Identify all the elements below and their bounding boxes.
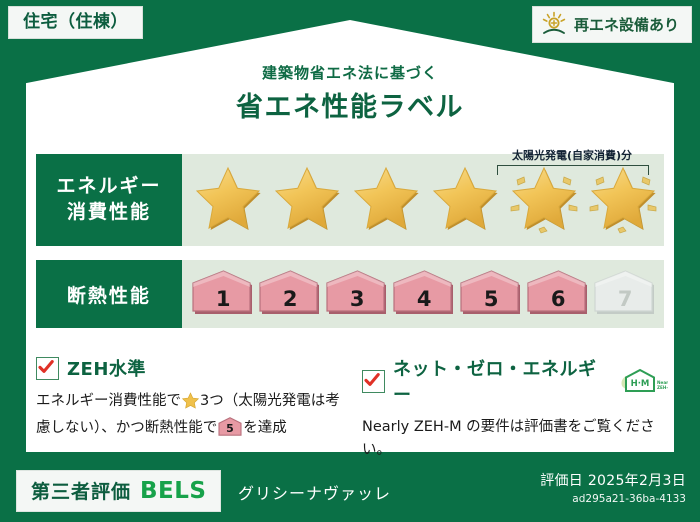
insulation-grade-chip-achieved: 6	[527, 270, 590, 318]
insulation-performance-row: 断熱性能 1 2 3 4 5 6	[36, 260, 664, 328]
insulation-grade-chip-inactive: 7	[594, 270, 657, 318]
energy-label-line2: 消費性能	[67, 200, 151, 226]
zeh-body-part1: エネルギー消費性能で	[36, 393, 181, 409]
evaluation-id: ad295a21-36ba-4133	[540, 493, 686, 505]
grade-number: 4	[417, 287, 432, 318]
page-title: 省エネ性能ラベル	[0, 85, 700, 124]
insulation-grade-chip-achieved: 2	[259, 270, 322, 318]
star-icon	[190, 163, 266, 237]
bels-certification-box: 第三者評価 BELS	[16, 470, 221, 512]
grade-number: 6	[551, 287, 566, 318]
feature-net-zero-energy: ネット・ゼロ・エネルギー H·M Nearly ZEH-M Nearly ZEH…	[362, 355, 668, 463]
grade-number: 7	[618, 287, 633, 318]
energy-row-label: エネルギー 消費性能	[36, 154, 182, 246]
energy-performance-label: 住宅（住棟） 再エネ設備あり 建築物省エネ法に基づく 省エネ性能ラベル	[0, 0, 700, 522]
star-icon	[269, 163, 345, 237]
inline-grade-number: 5	[226, 423, 234, 436]
feature-zeh-body: エネルギー消費性能で 3つ（太陽光発電は考慮しない）、かつ断熱性能で 5 を達成	[36, 390, 346, 445]
label-subtitle: 建築物省エネ法に基づく	[0, 62, 700, 83]
category-tag: 住宅（住棟）	[8, 6, 143, 39]
renewable-badge-label: 再エネ設備あり	[574, 14, 679, 35]
feature-nze-body: Nearly ZEH-M の要件は評価書をご覧ください。	[362, 416, 668, 463]
insulation-label-text: 断熱性能	[67, 281, 151, 308]
insulation-row-label: 断熱性能	[36, 260, 182, 328]
star-icon	[182, 392, 199, 417]
check-icon	[36, 357, 59, 380]
insulation-grade-chip-achieved: 4	[393, 270, 456, 318]
feature-zeh-header: ZEH水準	[36, 355, 346, 381]
bels-en-label: BELS	[140, 478, 206, 504]
energy-label-line1: エネルギー	[57, 174, 162, 200]
evaluation-date: 評価日 2025年2月3日	[540, 470, 686, 490]
solar-annotation-label: 太陽光発電(自家消費)分	[494, 147, 650, 163]
footer-meta: 評価日 2025年2月3日 ad295a21-36ba-4133	[540, 470, 686, 505]
star-icon	[348, 163, 424, 237]
grade-number: 1	[216, 287, 231, 318]
solar-annotation-bracket	[497, 165, 649, 175]
grade-number: 5	[484, 287, 499, 318]
insulation-grade-inline-icon: 5	[218, 417, 242, 444]
label-footer: 第三者評価 BELS グリシーナヴァッレ 評価日 2025年2月3日 ad295…	[0, 462, 700, 522]
renewable-energy-badge: 再エネ設備あり	[532, 6, 692, 43]
grade-number: 3	[350, 287, 365, 318]
feature-nze-header: ネット・ゼロ・エネルギー H·M Nearly ZEH-M	[362, 355, 668, 407]
zehm-logo-main-text: H·M	[631, 379, 650, 389]
zehm-logo-sub2: ZEH-M	[657, 385, 668, 390]
insulation-grade-chip-achieved: 5	[460, 270, 523, 318]
solar-sun-icon	[541, 11, 567, 37]
insulation-grade-scale: 1 2 3 4 5 6 7	[182, 260, 664, 328]
star-icon	[427, 163, 503, 237]
check-icon	[362, 370, 385, 393]
zeh-m-house-logo: H·M Nearly ZEH-M	[616, 367, 668, 395]
zeh-body-part3: を達成	[243, 420, 287, 436]
feature-zeh-title: ZEH水準	[67, 355, 146, 381]
feature-zeh-suijun: ZEH水準 エネルギー消費性能で 3つ（太陽光発電は考慮しない）、かつ断熱性能で…	[36, 355, 346, 445]
insulation-grade-chip-achieved: 1	[192, 270, 255, 318]
property-name: グリシーナヴァッレ	[238, 480, 391, 504]
grade-number: 2	[283, 287, 298, 318]
bels-jp-label: 第三者評価	[31, 477, 131, 504]
insulation-grade-chip-achieved: 3	[326, 270, 389, 318]
feature-nze-title: ネット・ゼロ・エネルギー	[393, 355, 604, 407]
